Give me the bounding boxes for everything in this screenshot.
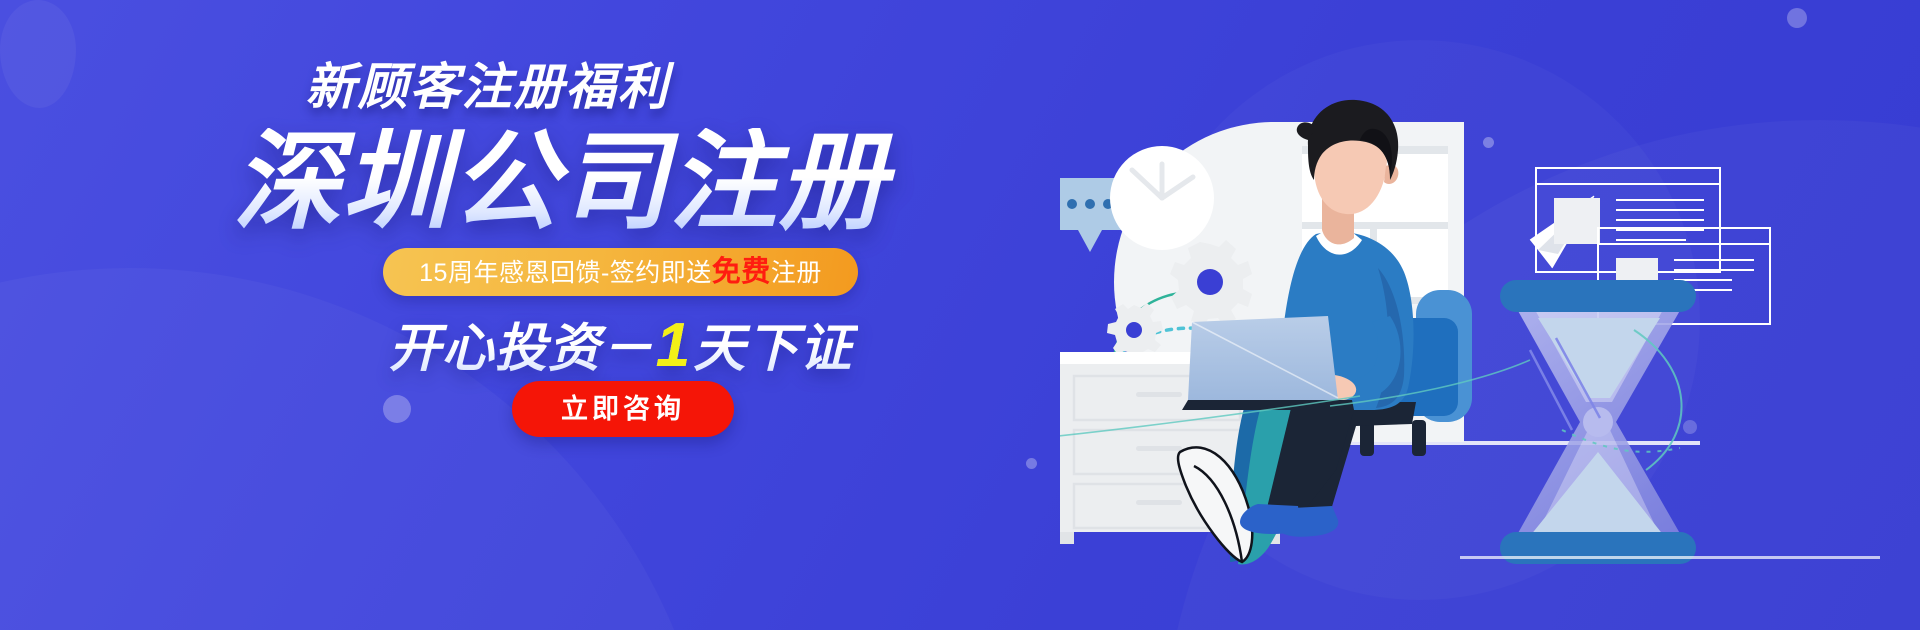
promo-pill-text: 15周年感恩回馈-签约即送免费注册 <box>419 258 822 287</box>
consult-now-label: 立即咨询 <box>561 396 685 423</box>
banner-copy: 新顾客注册福利 深圳公司注册 15周年感恩回馈-签约即送免费注册 开心投资－1天… <box>0 0 1160 630</box>
promo-banner: 新顾客注册福利 深圳公司注册 15周年感恩回馈-签约即送免费注册 开心投资－1天… <box>0 0 1920 630</box>
banner-subline: 开心投资－1天下证 <box>383 310 858 381</box>
hourglass-top-cap <box>1500 280 1696 312</box>
subline-right: 天下证 <box>693 320 852 378</box>
wall-clock-icon <box>1110 146 1214 250</box>
subline-number: 1 <box>654 311 693 380</box>
hourglass-icon <box>1500 280 1696 564</box>
banner-eyebrow: 新顾客注册福利 <box>0 62 975 112</box>
banner-illustration <box>1060 0 1920 630</box>
promo-prefix: 15周年感恩回馈-签约即送 <box>419 259 712 287</box>
document-card-icon <box>1536 168 1720 272</box>
promo-highlight: 免费 <box>712 256 771 288</box>
floor-line-right-icon <box>1460 556 1880 559</box>
hourglass-bottom-cap <box>1500 532 1696 564</box>
promo-pill: 15周年感恩回馈-签约即送免费注册 <box>383 248 858 296</box>
banner-headline: 深圳公司注册 <box>0 128 1120 236</box>
subline-left: 开心投资－ <box>389 320 654 378</box>
laptop-icon <box>1182 316 1354 410</box>
promo-suffix: 注册 <box>771 259 822 287</box>
consult-now-button[interactable]: 立即咨询 <box>512 381 734 437</box>
